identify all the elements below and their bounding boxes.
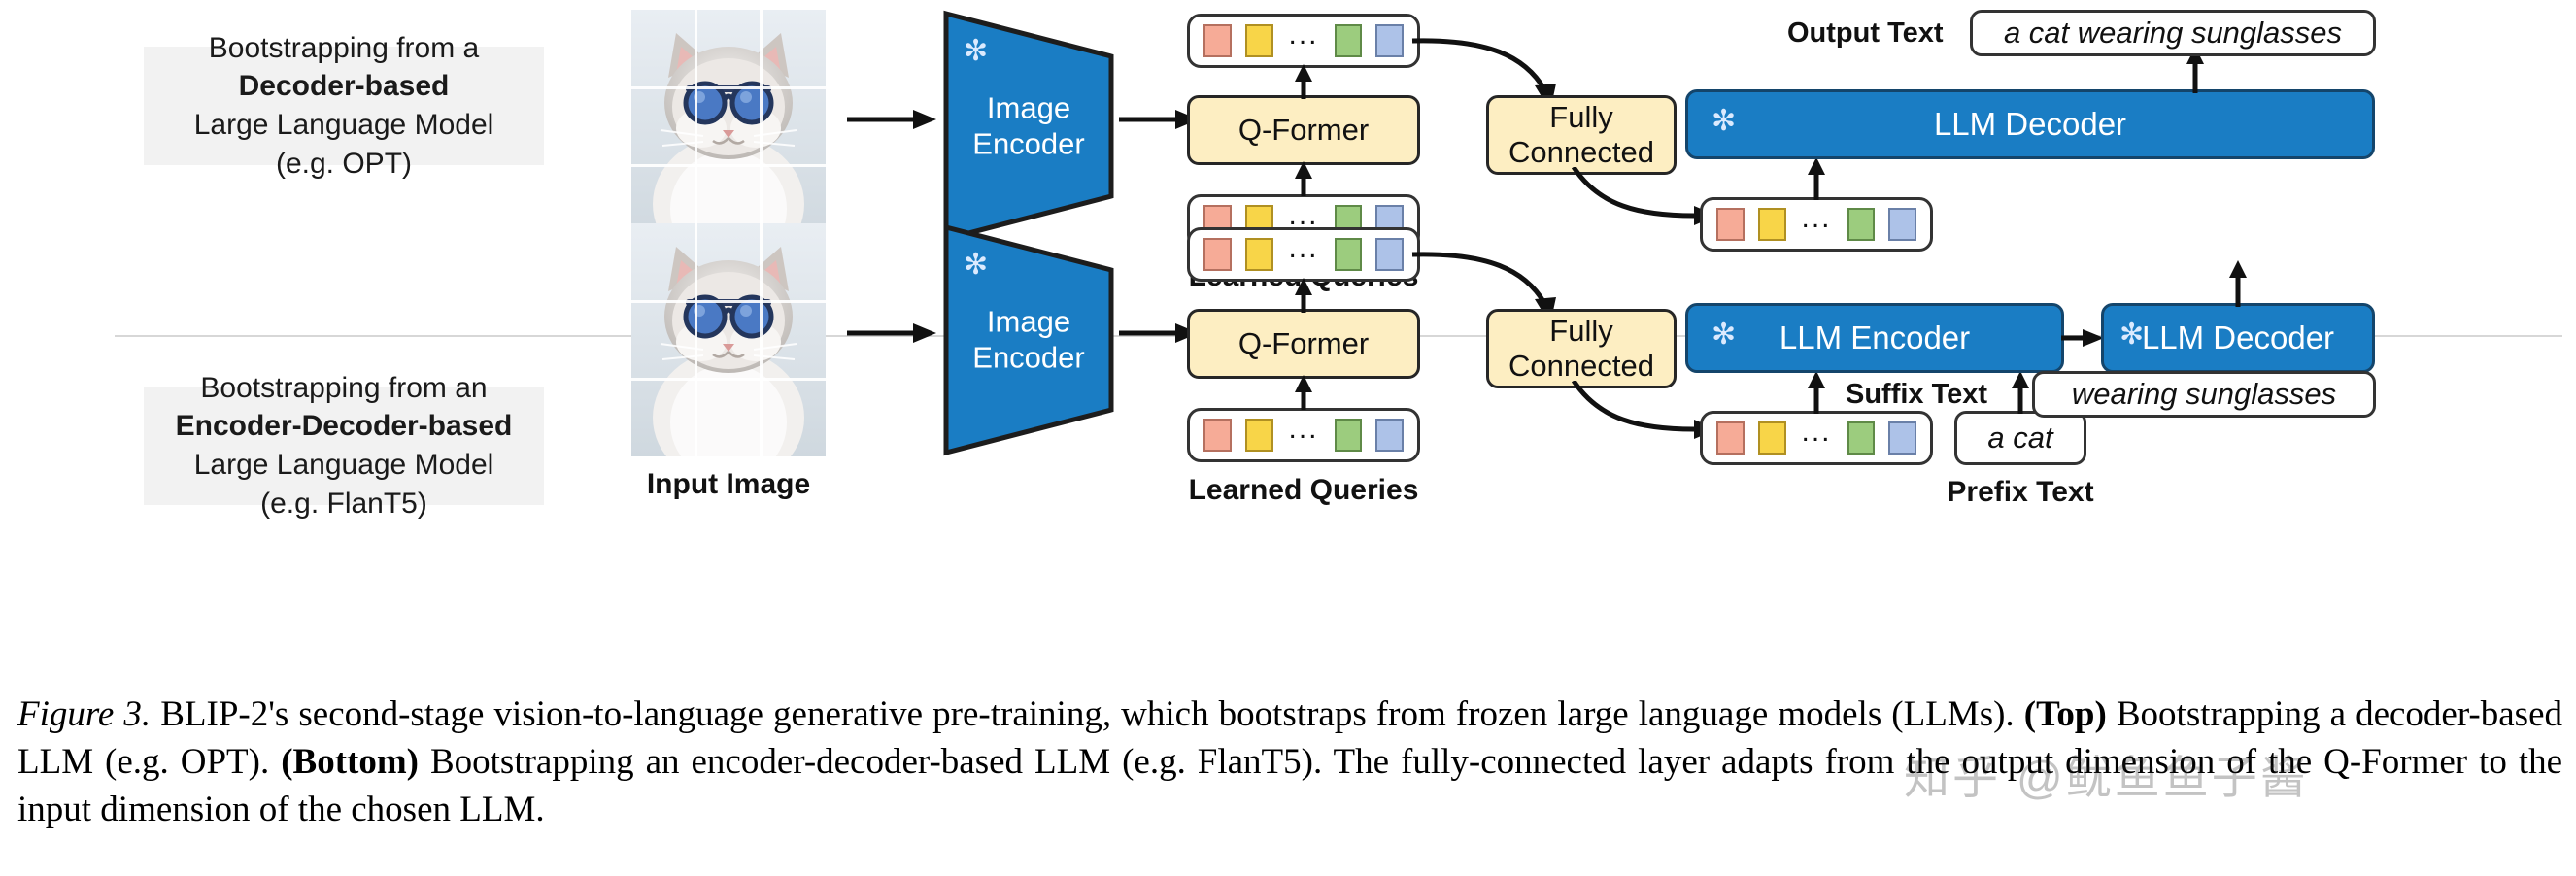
token-red	[1203, 419, 1232, 452]
token-blue	[1375, 24, 1404, 57]
bottom-arrow-encoder-to-decoder	[2061, 323, 2104, 353]
bottom-input-image-caption: Input Image	[631, 468, 826, 501]
cat-photo	[631, 223, 826, 456]
bottom-projected-tokens: ...	[1700, 411, 1933, 465]
token-yellow	[1245, 238, 1273, 271]
bottom-qformer-block: Q-Former	[1187, 309, 1420, 379]
token-green	[1847, 421, 1876, 455]
token-ellipsis: ...	[1800, 213, 1834, 224]
top-description-box: Bootstrapping from a Decoder-based Large…	[144, 47, 544, 165]
top-desc-line3: Large Language Model	[194, 106, 494, 145]
top-output-text-value: a cat wearing sunglasses	[1970, 10, 2376, 56]
bottom-llm-decoder-label: LLM Decoder	[2142, 320, 2334, 356]
top-output-text-label: Output Text	[1787, 17, 1944, 50]
cat-photo	[631, 10, 826, 243]
token-ellipsis: ...	[1287, 423, 1321, 435]
token-yellow	[1758, 208, 1786, 241]
fc-label-line2: Connected	[1508, 349, 1654, 383]
token-ellipsis: ...	[1287, 210, 1321, 221]
token-yellow	[1758, 421, 1786, 455]
bottom-learned-query-tokens: ...	[1187, 408, 1420, 462]
caption-top-tag: (Top)	[2024, 694, 2107, 734]
top-desc-line2: Decoder-based	[239, 67, 450, 106]
snowflake-icon: ✻	[964, 251, 988, 280]
token-blue	[1888, 421, 1916, 455]
fc-label-line2: Connected	[1508, 135, 1654, 169]
snowflake-icon: ✻	[1712, 320, 1736, 350]
top-llm-decoder-block: LLM Decoder	[1685, 89, 2375, 159]
top-qformer-label: Q-Former	[1238, 113, 1369, 148]
caption-bottom-tag: (Bottom)	[281, 742, 419, 782]
bottom-llm-encoder-block: LLM Encoder	[1685, 303, 2064, 373]
token-green	[1335, 238, 1363, 271]
top-arrow-projected-to-llm	[1801, 157, 1832, 200]
fc-label-line1: Fully	[1549, 314, 1612, 348]
bottom-arrow-image-to-encoder	[847, 319, 936, 348]
token-green	[1335, 419, 1363, 452]
top-arrow-queries-to-qformer	[1288, 161, 1319, 196]
token-ellipsis: ...	[1800, 426, 1834, 438]
top-arrow-qformer-to-tokens	[1288, 64, 1319, 99]
token-yellow	[1245, 24, 1273, 57]
snowflake-icon: ✻	[1712, 107, 1736, 136]
top-fc-label: Fully Connected	[1508, 100, 1654, 170]
bottom-arrow-projected-to-encoder	[1801, 371, 1832, 414]
bottom-desc-line4: (e.g. FlanT5)	[260, 485, 427, 523]
token-red	[1203, 238, 1232, 271]
bottom-arrow-decoder-to-suffix	[2222, 260, 2254, 307]
fc-label-line1: Fully	[1549, 100, 1612, 134]
top-fully-connected-block: Fully Connected	[1486, 95, 1677, 175]
figure-caption: Figure 3. BLIP-2's second-stage vision-t…	[17, 691, 2562, 833]
token-green	[1335, 24, 1363, 57]
figure-canvas: Bootstrapping from a Decoder-based Large…	[0, 0, 2576, 876]
bottom-llm-encoder-label: LLM Encoder	[1779, 320, 1970, 356]
top-image-encoder: ✻ Image Encoder	[942, 10, 1115, 243]
top-output-query-tokens: ...	[1187, 14, 1420, 68]
bottom-learned-queries-caption: Learned Queries	[1148, 474, 1459, 507]
token-blue	[1375, 419, 1404, 452]
top-input-image	[631, 10, 826, 243]
bottom-desc-line2: Encoder-Decoder-based	[176, 407, 513, 446]
snowflake-icon: ✻	[2119, 320, 2144, 350]
bottom-suffix-text-label: Suffix Text	[1846, 379, 1987, 411]
top-desc-line1: Bootstrapping from a	[209, 29, 479, 68]
bottom-desc-line3: Large Language Model	[194, 446, 494, 485]
bottom-input-image	[631, 223, 826, 456]
token-red	[1716, 208, 1745, 241]
token-red	[1716, 421, 1745, 455]
token-blue	[1888, 208, 1916, 241]
token-ellipsis: ...	[1287, 29, 1321, 41]
figure-number: Figure 3.	[17, 694, 151, 734]
bottom-suffix-text-value: wearing sunglasses	[2032, 371, 2376, 418]
top-qformer-block: Q-Former	[1187, 95, 1420, 165]
caption-line1: BLIP-2's second-stage vision-to-language…	[160, 694, 2014, 734]
token-yellow	[1245, 419, 1273, 452]
bottom-prefix-text-value: a cat	[1954, 411, 2086, 465]
bottom-fc-label: Fully Connected	[1508, 314, 1654, 384]
top-llm-decoder-label: LLM Decoder	[1934, 106, 2126, 143]
bottom-qformer-label: Q-Former	[1238, 326, 1369, 361]
bottom-image-encoder: ✻ Image Encoder	[942, 223, 1115, 456]
token-green	[1847, 208, 1876, 241]
token-ellipsis: ...	[1287, 243, 1321, 254]
top-desc-line4: (e.g. OPT)	[276, 145, 412, 184]
token-blue	[1375, 238, 1404, 271]
bottom-prefix-text-label: Prefix Text	[1914, 476, 2127, 509]
bottom-fully-connected-block: Fully Connected	[1486, 309, 1677, 388]
bottom-arrow-queries-to-qformer	[1288, 375, 1319, 410]
token-red	[1203, 24, 1232, 57]
bottom-description-box: Bootstrapping from an Encoder-Decoder-ba…	[144, 387, 544, 505]
bottom-output-query-tokens: ...	[1187, 227, 1420, 282]
top-arrow-image-to-encoder	[847, 105, 936, 134]
snowflake-icon: ✻	[964, 37, 988, 66]
top-projected-tokens: ...	[1700, 197, 1933, 252]
bottom-desc-line1: Bootstrapping from an	[200, 369, 487, 408]
